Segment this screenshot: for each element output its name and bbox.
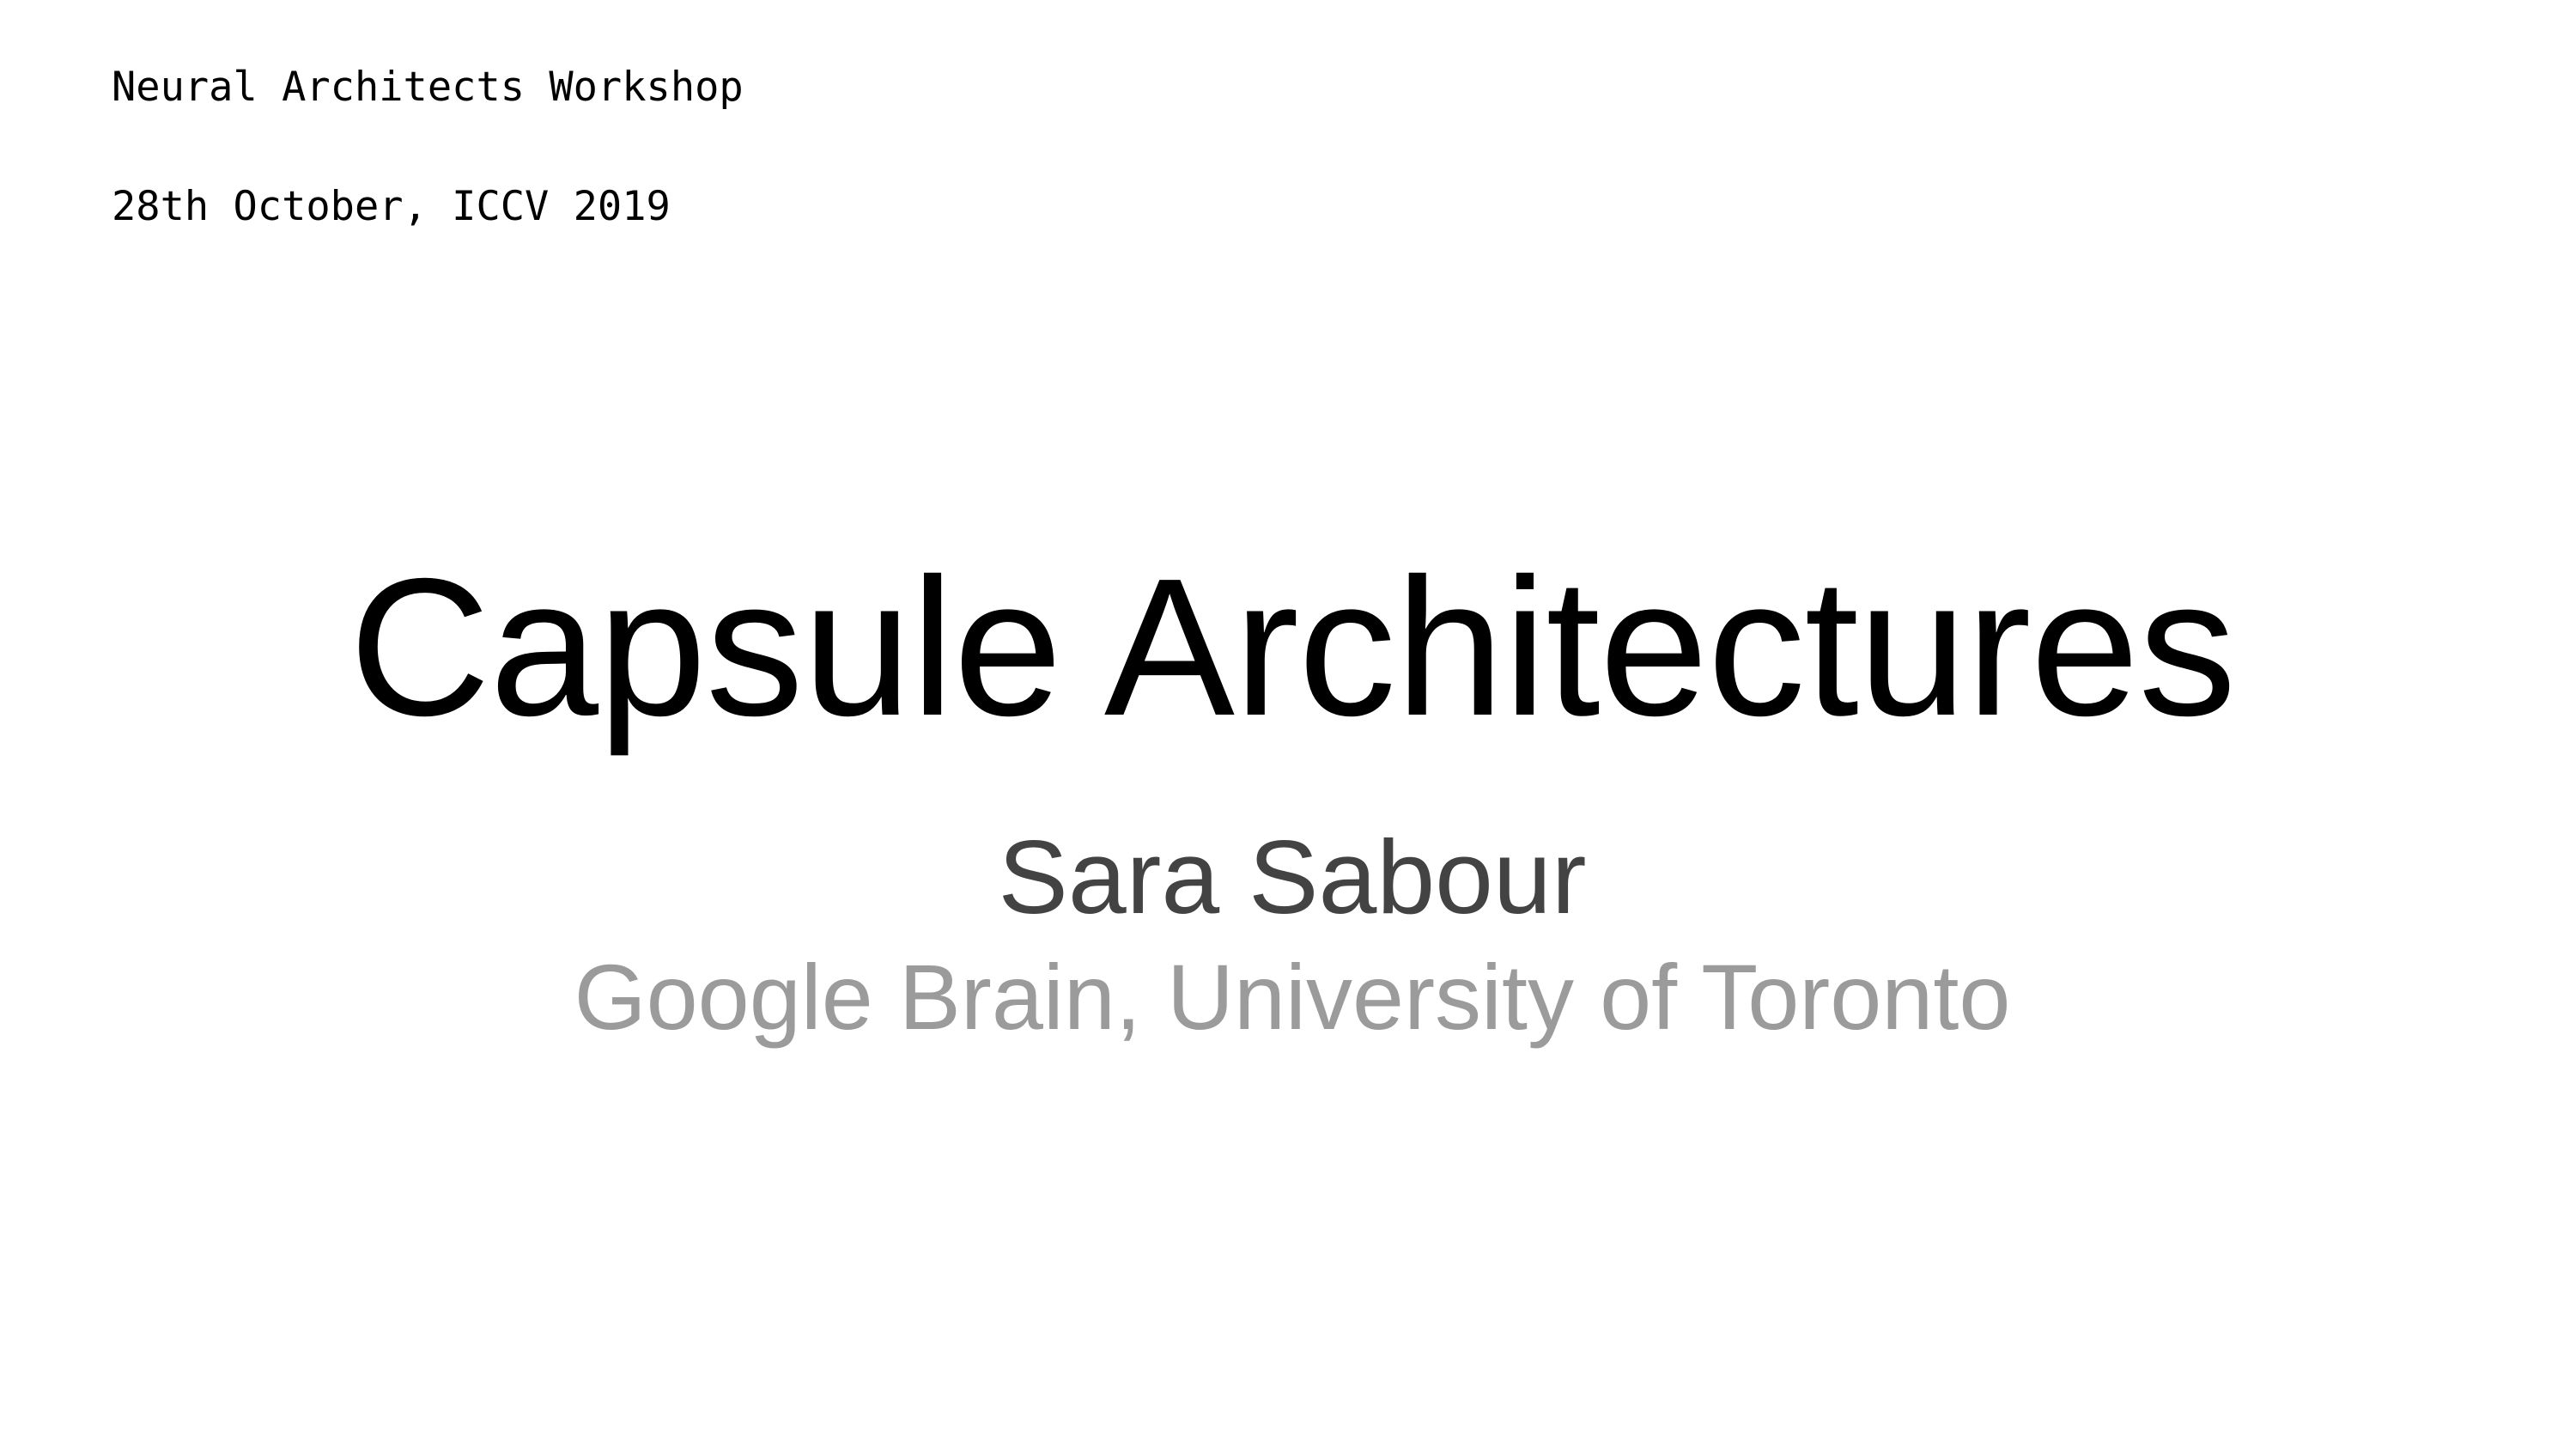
workshop-date: 28th October, ICCV 2019 <box>112 186 1485 227</box>
workshop-header: Neural Architects Workshop 28th October,… <box>112 67 1485 227</box>
page-title: Capsule Architectures <box>0 550 2576 746</box>
workshop-name: Neural Architects Workshop <box>112 67 1485 107</box>
title-slide: Neural Architects Workshop 28th October,… <box>0 0 2576 1449</box>
author-name: Sara Sabour <box>0 825 2576 929</box>
author-affiliation: Google Brain, University of Toronto <box>0 951 2576 1044</box>
